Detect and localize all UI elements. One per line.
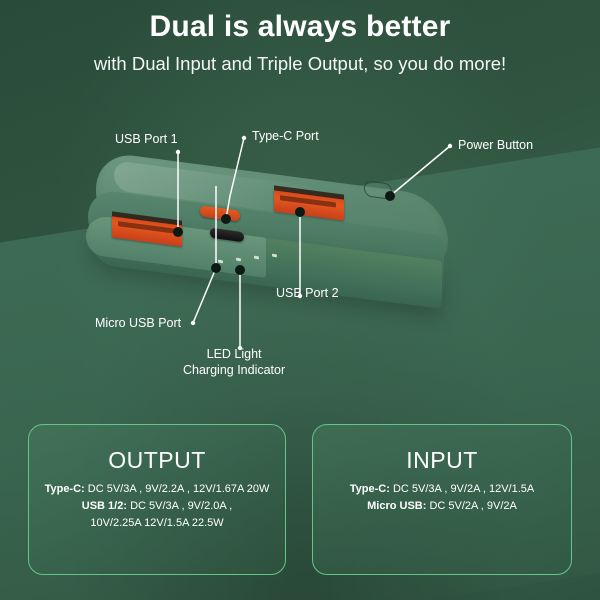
page-subtitle: with Dual Input and Triple Output, so yo… <box>0 53 600 75</box>
input-spec-name: Micro USB: <box>367 500 426 512</box>
input-spec-name: Type-C: <box>350 483 390 495</box>
led-indicator-dot-2 <box>236 258 241 261</box>
led-indicator-dot-1 <box>218 260 223 263</box>
output-spec-name: Type-C: <box>45 483 85 495</box>
output-spec-row: 10V/2.25A 12V/1.5A 22.5W <box>37 515 277 532</box>
input-spec-row: Type-C: DC 5V/3A , 9V/2A , 12V/1.5A <box>321 481 563 498</box>
callout-type-c-port: Type-C Port <box>252 129 319 145</box>
input-spec-list: Type-C: DC 5V/3A , 9V/2A , 12V/1.5A Micr… <box>313 481 571 515</box>
output-spec-value: DC 5V/3A , 9V/2.2A , 12V/1.67A 20W <box>88 483 270 495</box>
callout-micro-usb-port: Micro USB Port <box>95 316 181 332</box>
callout-usb-port-2: USB Port 2 <box>276 286 339 302</box>
header: Dual is always better with Dual Input an… <box>0 10 600 75</box>
input-spec-panel: INPUT Type-C: DC 5V/3A , 9V/2A , 12V/1.5… <box>312 424 572 575</box>
page-title: Dual is always better <box>0 10 600 45</box>
output-spec-row: Type-C: DC 5V/3A , 9V/2.2A , 12V/1.67A 2… <box>37 481 277 498</box>
led-indicator-dot-3 <box>254 256 259 259</box>
product-image <box>84 168 456 308</box>
callout-power-button: Power Button <box>458 138 533 154</box>
input-spec-value: DC 5V/2A , 9V/2A <box>429 500 516 512</box>
output-spec-name: USB 1/2: <box>82 500 127 512</box>
callout-led-indicator: LED Light Charging Indicator <box>183 347 285 378</box>
output-spec-value: 10V/2.25A 12V/1.5A 22.5W <box>90 517 223 529</box>
input-spec-row: Micro USB: DC 5V/2A , 9V/2A <box>321 498 563 515</box>
output-panel-title: OUTPUT <box>29 447 285 474</box>
output-spec-value: DC 5V/3A , 9V/2.0A , <box>130 500 232 512</box>
callout-usb-port-1: USB Port 1 <box>115 132 178 148</box>
input-spec-value: DC 5V/3A , 9V/2A , 12V/1.5A <box>393 483 534 495</box>
output-spec-list: Type-C: DC 5V/3A , 9V/2.2A , 12V/1.67A 2… <box>29 481 285 532</box>
output-spec-row: USB 1/2: DC 5V/3A , 9V/2.0A , <box>37 498 277 515</box>
infographic-canvas: Dual is always better with Dual Input an… <box>0 0 600 600</box>
led-indicator-dot-4 <box>272 254 277 257</box>
input-panel-title: INPUT <box>313 447 571 474</box>
output-spec-panel: OUTPUT Type-C: DC 5V/3A , 9V/2.2A , 12V/… <box>28 424 286 575</box>
